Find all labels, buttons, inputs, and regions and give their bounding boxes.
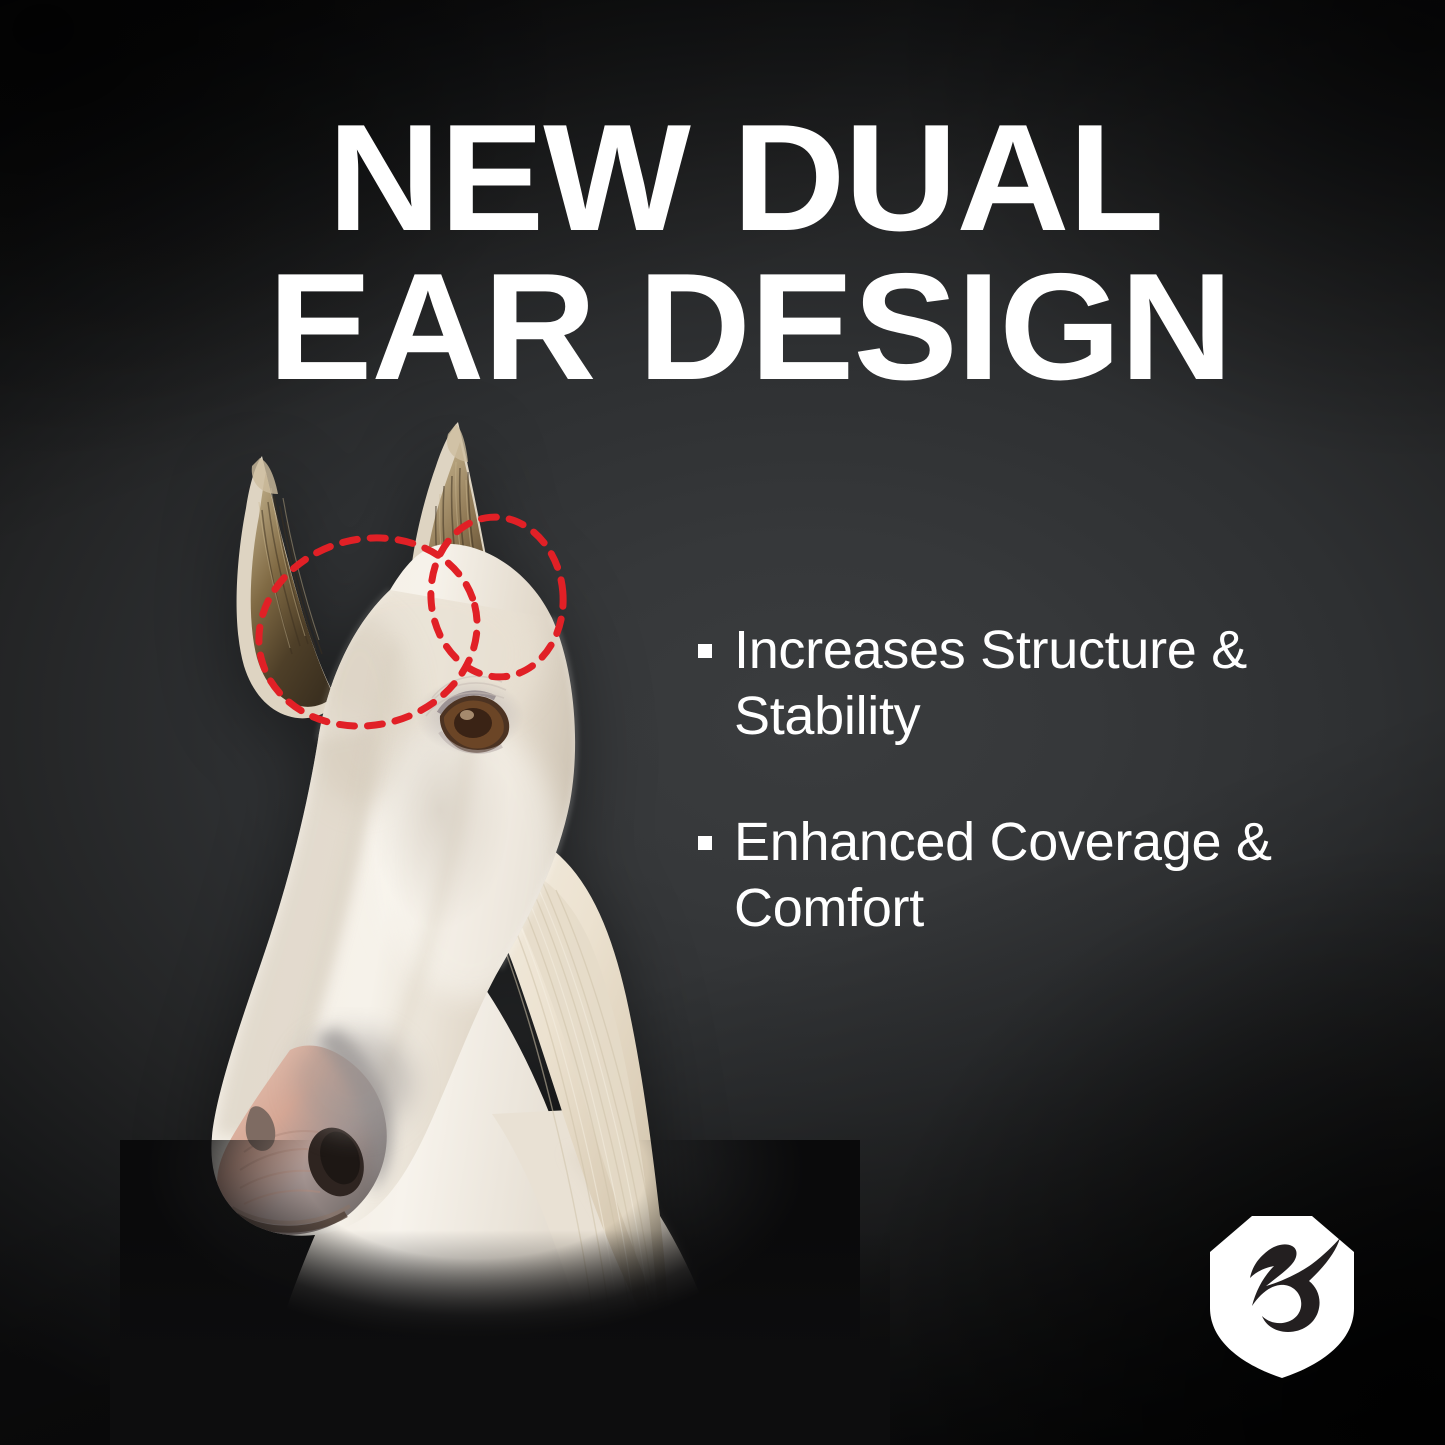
headline-line-1: NEW DUAL <box>268 104 1236 253</box>
shield-icon <box>1210 1216 1354 1378</box>
brand-logo <box>1206 1212 1358 1380</box>
list-item: Increases Structure & Stability <box>698 618 1378 750</box>
promo-image-canvas: NEW DUAL EAR DESIGN Increases Structure … <box>0 0 1445 1445</box>
feature-bullet-list: Increases Structure & Stability Enhanced… <box>698 618 1378 1002</box>
list-item: Enhanced Coverage & Comfort <box>698 810 1378 942</box>
bullet-text-2: Enhanced Coverage & Comfort <box>734 810 1354 942</box>
page-title: NEW DUAL EAR DESIGN <box>268 104 1236 402</box>
square-bullet-icon <box>698 836 712 850</box>
headline-line-2: EAR DESIGN <box>268 253 1236 402</box>
square-bullet-icon <box>698 644 712 658</box>
bullet-text-1: Increases Structure & Stability <box>734 618 1354 750</box>
